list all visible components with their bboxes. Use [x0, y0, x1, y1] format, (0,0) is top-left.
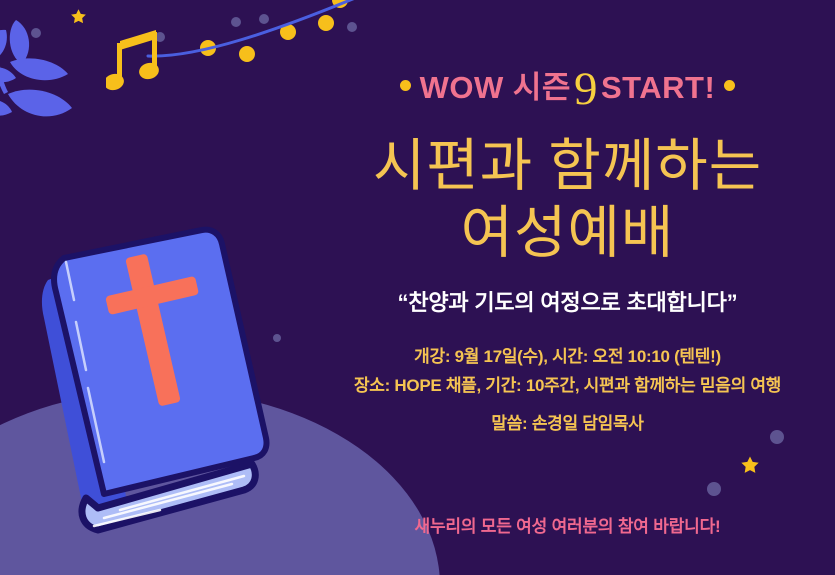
detail-line-location: 장소: HOPE 채플, 기간: 10주간, 시편과 함께하는 믿음의 여행 — [288, 371, 835, 400]
detail-line-speaker: 말씀: 손경일 담임목사 — [288, 409, 835, 438]
title-line-2: 여성예배 — [300, 201, 835, 268]
title-line-1: 시편과 함께하는 — [373, 135, 762, 198]
music-note-icon — [106, 28, 162, 94]
page-title: 시편과 함께하는 여성예배 — [300, 134, 835, 267]
poster-canvas: WOW 시즌9START! 시편과 함께하는 여성예배 “찬양과 기도의 여정으… — [0, 0, 835, 575]
kicker-prefix: WOW 시즌 — [420, 70, 571, 105]
bible-book-illustration — [8, 222, 308, 562]
kicker-suffix: START! — [601, 70, 715, 105]
season-kicker: WOW 시즌9START! — [300, 66, 835, 113]
tagline-quote: “찬양과 기도의 여정으로 초대합니다” — [300, 292, 835, 314]
detail-line-schedule: 개강: 9월 17일(수), 시간: 오전 10:10 (텐텐!) — [288, 342, 835, 371]
foliage-leaves — [0, 14, 82, 142]
content-column: WOW 시즌9START! 시편과 함께하는 여성예배 “찬양과 기도의 여정으… — [300, 0, 835, 575]
bullet-dot-left — [400, 80, 411, 91]
invitation-note: 새누리의 모든 여성 여러분의 참여 바랍니다! — [300, 518, 835, 535]
event-details: 개강: 9월 17일(수), 시간: 오전 10:10 (텐텐!) 장소: HO… — [288, 342, 835, 439]
bullet-dot-right — [724, 80, 735, 91]
season-number: 9 — [571, 63, 601, 115]
